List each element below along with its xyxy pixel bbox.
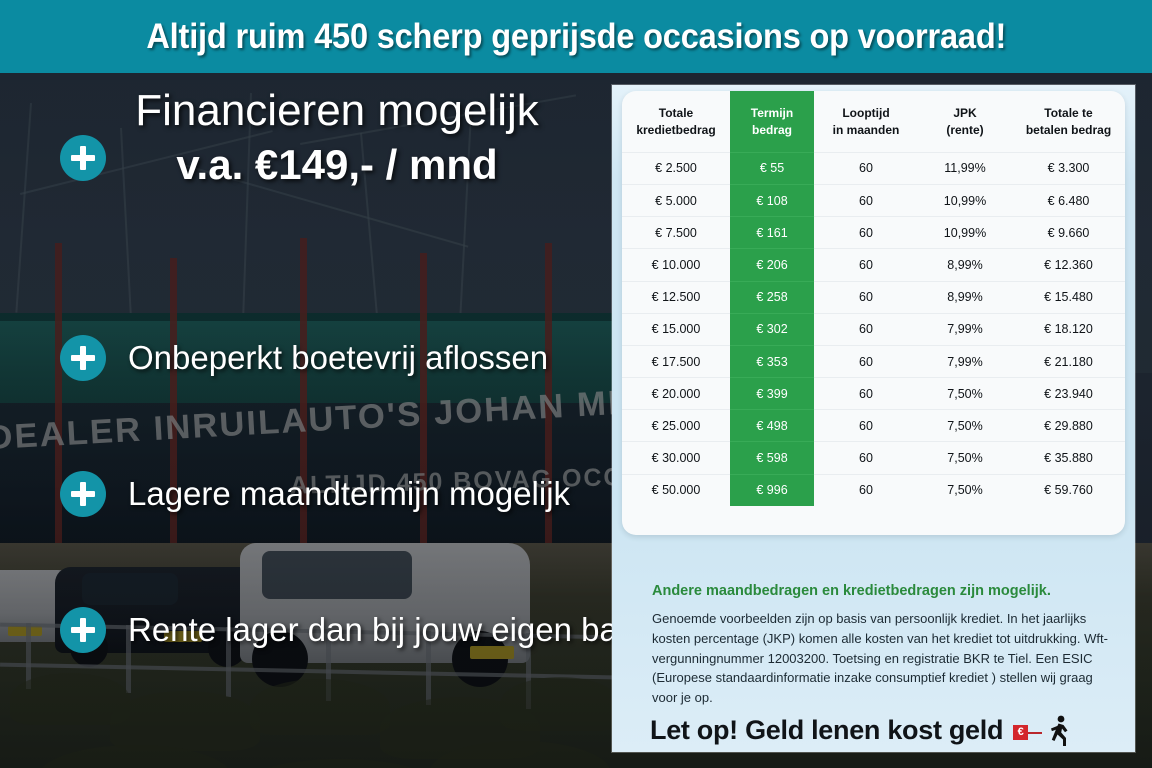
table-cell: 7,99%	[918, 313, 1012, 345]
table-cell: 7,99%	[918, 345, 1012, 377]
table-cell: € 5.000	[622, 184, 730, 216]
table-cell: € 302	[730, 313, 814, 345]
table-cell: 11,99%	[918, 152, 1012, 184]
column-header-jpk-rate: JPK (rente)	[918, 91, 1012, 152]
column-header-monthly-amount: Termijn bedrag	[730, 91, 814, 152]
table-cell: 7,50%	[918, 474, 1012, 506]
table-cell: 60	[814, 378, 918, 410]
table-cell: 8,99%	[918, 281, 1012, 313]
table-row: € 50.000€ 996607,50%€ 59.760	[622, 474, 1125, 506]
credit-warning-row: Let op! Geld lenen kost geld €	[650, 713, 1120, 747]
afm-walking-person-icon	[1041, 714, 1075, 748]
table-cell: 8,99%	[918, 249, 1012, 281]
table-cell: € 206	[730, 249, 814, 281]
table-cell: € 161	[730, 217, 814, 249]
selling-point-item: Rente lager dan bij jouw eigen bank	[60, 607, 653, 653]
column-header-total-payable: Totale te betalen bedrag	[1012, 91, 1125, 152]
selling-point-label: Rente lager dan bij jouw eigen bank	[128, 611, 653, 649]
table-row: € 25.000€ 498607,50%€ 29.880	[622, 410, 1125, 442]
credit-table-card: Totale kredietbedrag Termijn bedrag Loop…	[622, 91, 1125, 535]
table-cell: € 17.500	[622, 345, 730, 377]
plus-icon	[60, 607, 106, 653]
table-cell: € 6.480	[1012, 184, 1125, 216]
table-row: € 17.500€ 353607,99%€ 21.180	[622, 345, 1125, 377]
selling-point-label: Onbeperkt boetevrij aflossen	[128, 339, 548, 377]
table-cell: € 15.000	[622, 313, 730, 345]
table-cell: € 399	[730, 378, 814, 410]
table-row: € 5.000€ 1086010,99%€ 6.480	[622, 184, 1125, 216]
finance-headline: Financieren mogelijk v.a. €149,- / mnd	[62, 85, 612, 191]
table-cell: € 29.880	[1012, 410, 1125, 442]
table-cell: 60	[814, 217, 918, 249]
table-row: € 12.500€ 258608,99%€ 15.480	[622, 281, 1125, 313]
table-cell: € 2.500	[622, 152, 730, 184]
table-cell: 60	[814, 184, 918, 216]
table-cell: € 12.500	[622, 281, 730, 313]
plus-icon	[60, 471, 106, 517]
afm-euro-walking-person-icon: €	[1013, 713, 1077, 747]
table-cell: € 996	[730, 474, 814, 506]
table-cell: 7,50%	[918, 410, 1012, 442]
table-cell: € 7.500	[622, 217, 730, 249]
promo-banner: Altijd ruim 450 scherp geprijsde occasio…	[0, 0, 1152, 73]
table-cell: € 498	[730, 410, 814, 442]
table-row: € 10.000€ 206608,99%€ 12.360	[622, 249, 1125, 281]
table-cell: € 9.660	[1012, 217, 1125, 249]
table-cell: € 10.000	[622, 249, 730, 281]
credit-examples-table: Totale kredietbedrag Termijn bedrag Loop…	[622, 91, 1125, 506]
selling-point-item: Onbeperkt boetevrij aflossen	[60, 335, 548, 381]
table-cell: 10,99%	[918, 217, 1012, 249]
table-cell: 60	[814, 442, 918, 474]
table-cell: € 258	[730, 281, 814, 313]
column-header-total-credit: Totale kredietbedrag	[622, 91, 730, 152]
selling-point-item: Lagere maandtermijn mogelijk	[60, 471, 570, 517]
table-cell: € 35.880	[1012, 442, 1125, 474]
table-cell: 60	[814, 345, 918, 377]
credit-table-body: € 2.500€ 556011,99%€ 3.300€ 5.000€ 10860…	[622, 152, 1125, 506]
table-cell: € 353	[730, 345, 814, 377]
table-cell: € 25.000	[622, 410, 730, 442]
table-cell: 60	[814, 281, 918, 313]
table-cell: € 108	[730, 184, 814, 216]
table-cell: € 18.120	[1012, 313, 1125, 345]
table-row: € 15.000€ 302607,99%€ 18.120	[622, 313, 1125, 345]
table-cell: € 15.480	[1012, 281, 1125, 313]
table-cell: € 3.300	[1012, 152, 1125, 184]
table-cell: € 23.940	[1012, 378, 1125, 410]
selling-point-label: Lagere maandtermijn mogelijk	[128, 475, 570, 513]
finance-headline-line-1: Financieren mogelijk	[62, 85, 612, 137]
promo-banner-text: Altijd ruim 450 scherp geprijsde occasio…	[146, 17, 1006, 57]
table-cell: 7,50%	[918, 378, 1012, 410]
credit-table-header-row: Totale kredietbedrag Termijn bedrag Loop…	[622, 91, 1125, 152]
credit-disclaimer-text: Genoemde voorbeelden zijn op basis van p…	[652, 609, 1120, 708]
table-cell: € 20.000	[622, 378, 730, 410]
credit-table-head: Totale kredietbedrag Termijn bedrag Loop…	[622, 91, 1125, 152]
table-cell: € 21.180	[1012, 345, 1125, 377]
table-row: € 7.500€ 1616010,99%€ 9.660	[622, 217, 1125, 249]
table-cell: € 55	[730, 152, 814, 184]
table-cell: 60	[814, 474, 918, 506]
credit-info-panel: Totale kredietbedrag Termijn bedrag Loop…	[612, 85, 1135, 752]
afm-connector-line	[1028, 732, 1042, 734]
table-row: € 30.000€ 598607,50%€ 35.880	[622, 442, 1125, 474]
table-cell: 60	[814, 410, 918, 442]
afm-euro-symbol: €	[1013, 725, 1028, 740]
table-cell: 60	[814, 152, 918, 184]
table-row: € 2.500€ 556011,99%€ 3.300	[622, 152, 1125, 184]
table-cell: € 12.360	[1012, 249, 1125, 281]
plus-icon	[60, 335, 106, 381]
table-cell: 10,99%	[918, 184, 1012, 216]
credit-warning-text: Let op! Geld lenen kost geld	[650, 715, 1003, 746]
table-cell: 7,50%	[918, 442, 1012, 474]
table-cell: 60	[814, 249, 918, 281]
table-cell: € 30.000	[622, 442, 730, 474]
table-cell: € 59.760	[1012, 474, 1125, 506]
other-amounts-note-title: Andere maandbedragen en kredietbedragen …	[652, 583, 1112, 599]
selling-points-list: Financieren mogelijk v.a. €149,- / mnd O…	[0, 73, 612, 768]
table-cell: € 50.000	[622, 474, 730, 506]
column-header-term-months: Looptijd in maanden	[814, 91, 918, 152]
table-row: € 20.000€ 399607,50%€ 23.940	[622, 378, 1125, 410]
table-cell: 60	[814, 313, 918, 345]
table-cell: € 598	[730, 442, 814, 474]
finance-headline-line-2: v.a. €149,- / mnd	[62, 139, 612, 192]
